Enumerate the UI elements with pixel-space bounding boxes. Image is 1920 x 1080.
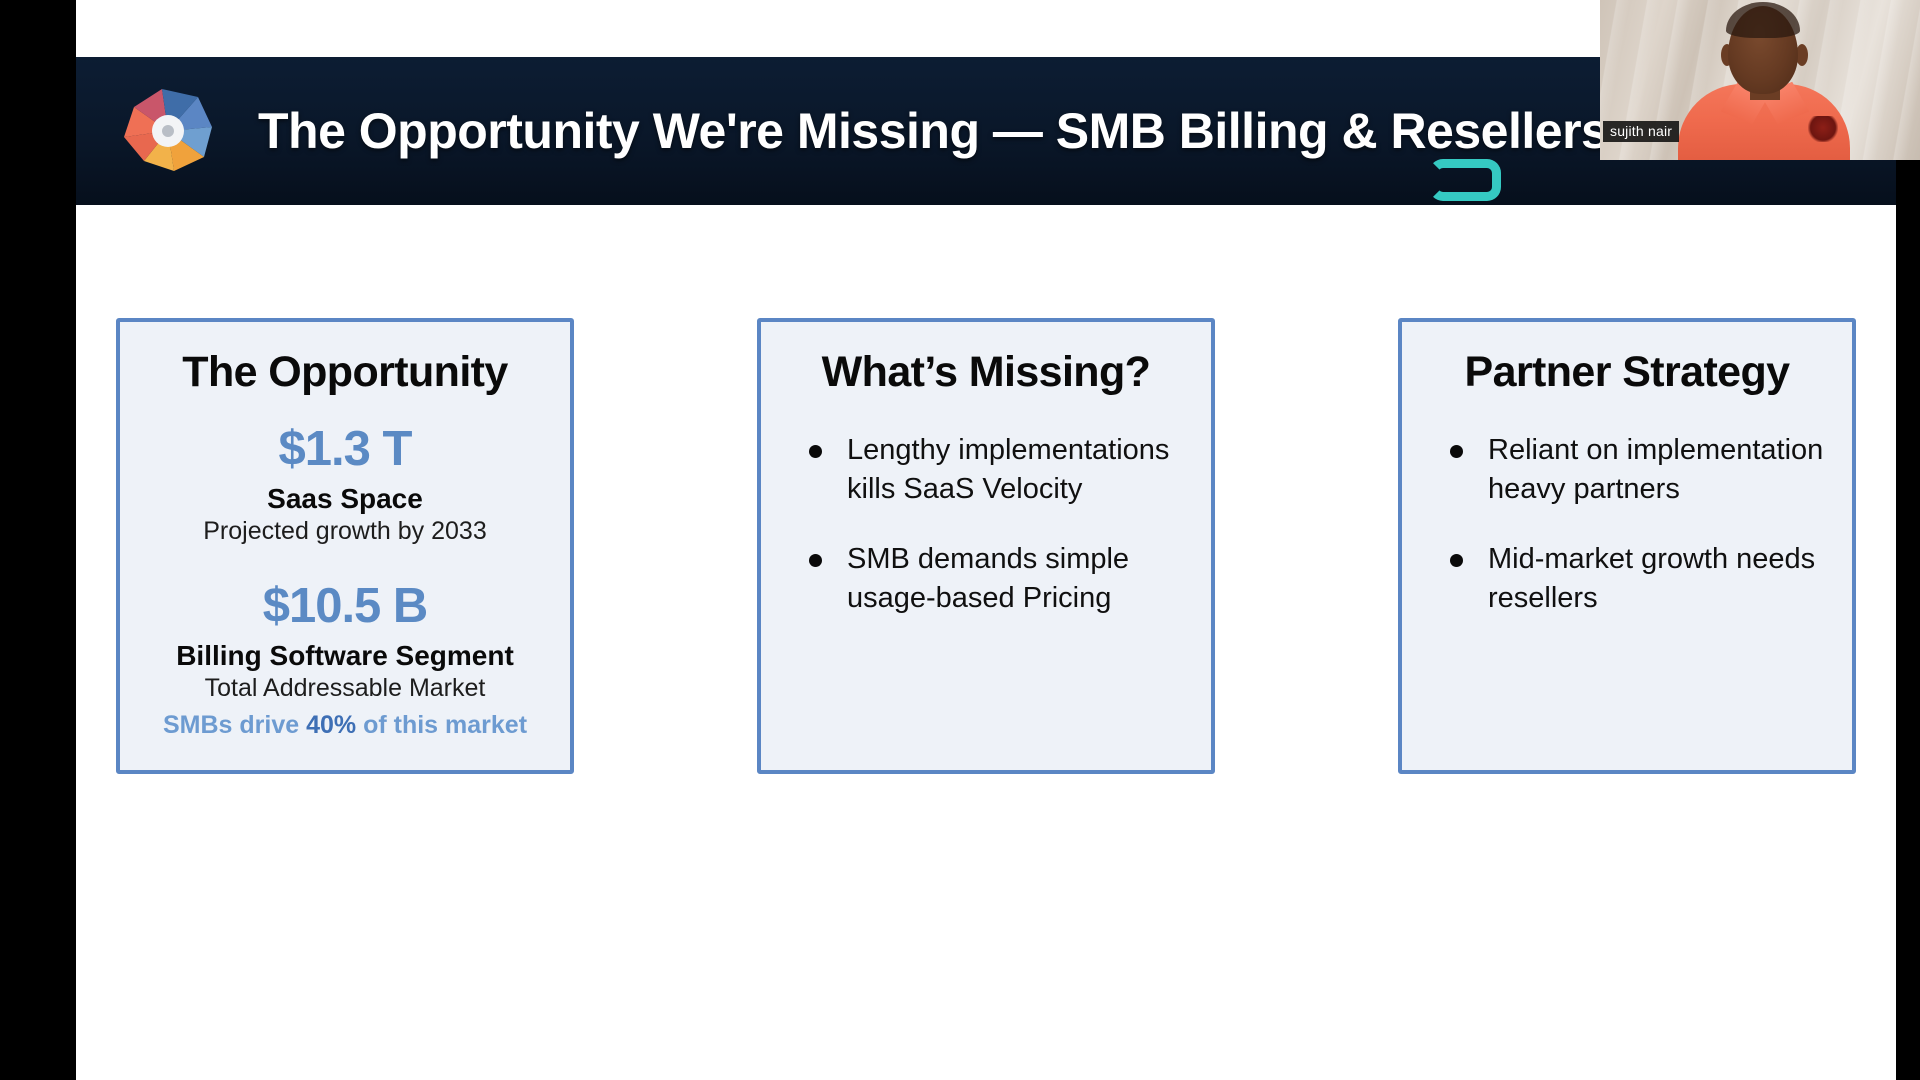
list-item-label: Mid-market growth needs resellers (1488, 543, 1815, 614)
stat-note-suffix: of this market (356, 711, 527, 739)
card-the-opportunity: The Opportunity $1.3 T Saas Space Projec… (116, 318, 574, 774)
stat-value: $10.5 B (146, 580, 544, 634)
meeting-screen: The Opportunity We're Missing — SMB Bill… (0, 0, 1920, 1080)
card-whats-missing: What’s Missing? Lengthy implementations … (757, 318, 1215, 774)
list-item: Reliant on implementation heavy partners (1436, 431, 1826, 508)
cards-row: The Opportunity $1.3 T Saas Space Projec… (76, 318, 1896, 774)
card-partner-strategy: Partner Strategy Reliant on implementati… (1398, 318, 1856, 774)
stat-value: $1.3 T (146, 423, 544, 477)
card-title: Partner Strategy (1428, 348, 1826, 397)
bullet-dot-icon (1450, 445, 1463, 458)
stat-label: Saas Space (146, 483, 544, 515)
list-item: Mid-market growth needs resellers (1436, 540, 1826, 617)
stat-label: Billing Software Segment (146, 640, 544, 672)
stat-note-highlight: 40% (306, 711, 356, 739)
teal-bracket-mark-icon (1429, 159, 1501, 201)
webcam-shirt-logo (1808, 116, 1838, 142)
stat-block-billing-segment: $10.5 B Billing Software Segment Total A… (146, 580, 544, 740)
stat-subtext: Projected growth by 2033 (146, 517, 544, 546)
bullet-dot-icon (1450, 554, 1463, 567)
bullet-dot-icon (809, 445, 822, 458)
webcam-pip[interactable]: sujith nair (1600, 0, 1920, 160)
page-title: The Opportunity We're Missing — SMB Bill… (258, 102, 1608, 160)
presentation-slide: The Opportunity We're Missing — SMB Bill… (76, 0, 1896, 1080)
list-item-label: SMB demands simple usage-based Pricing (847, 543, 1129, 614)
list-item: SMB demands simple usage-based Pricing (795, 540, 1185, 617)
card-title: The Opportunity (146, 348, 544, 397)
list-item-label: Lengthy implementations kills SaaS Veloc… (847, 434, 1169, 505)
list-item-label: Reliant on implementation heavy partners (1488, 434, 1823, 505)
bullet-dot-icon (809, 554, 822, 567)
stat-note: SMBs drive 40% of this market (146, 711, 544, 740)
stat-note-prefix: SMBs drive (163, 711, 306, 739)
bullet-list: Lengthy implementations kills SaaS Veloc… (787, 431, 1185, 617)
stat-subtext: Total Addressable Market (146, 674, 544, 703)
card-title: What’s Missing? (787, 348, 1185, 397)
stat-block-saas-space: $1.3 T Saas Space Projected growth by 20… (146, 423, 544, 546)
bullet-list: Reliant on implementation heavy partners… (1428, 431, 1826, 617)
pinwheel-logo-icon (112, 75, 224, 187)
participant-name-label: sujith nair (1603, 121, 1679, 142)
list-item: Lengthy implementations kills SaaS Veloc… (795, 431, 1185, 508)
